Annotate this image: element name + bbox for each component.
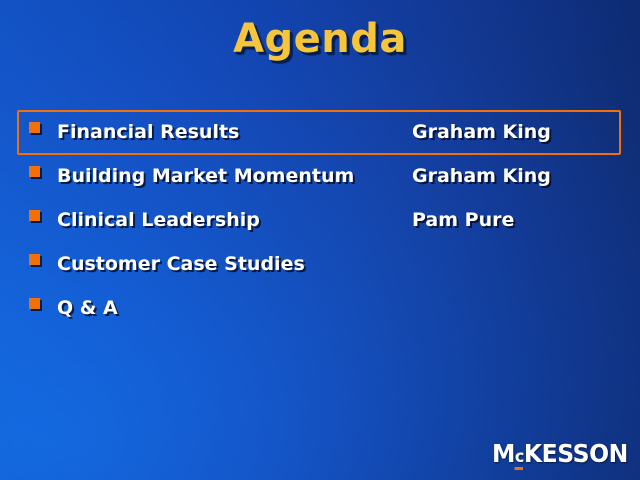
presentation-slide: Agenda Financial Results Graham King Bui… bbox=[0, 0, 640, 480]
mckesson-logo: McKESSON bbox=[492, 440, 628, 471]
slide-title: Agenda bbox=[0, 16, 640, 62]
bullet-square-icon bbox=[29, 166, 40, 177]
agenda-row-financial-results[interactable]: Financial Results Graham King bbox=[0, 110, 640, 154]
logo-text-m: M bbox=[492, 440, 515, 468]
agenda-presenter: Graham King bbox=[412, 154, 551, 198]
agenda-presenter: Pam Pure bbox=[412, 198, 514, 242]
agenda-topic: Clinical Leadership bbox=[57, 198, 260, 242]
logo-text-kesson: KESSON bbox=[524, 440, 628, 468]
agenda-topic: Financial Results bbox=[57, 110, 239, 154]
agenda-topic: Customer Case Studies bbox=[57, 242, 305, 286]
agenda-row-customer-case-studies[interactable]: Customer Case Studies bbox=[0, 242, 640, 286]
agenda-list: Financial Results Graham King Building M… bbox=[0, 110, 640, 330]
agenda-row-q-and-a[interactable]: Q & A bbox=[0, 286, 640, 330]
bullet-square-icon bbox=[29, 122, 40, 133]
bullet-square-icon bbox=[29, 298, 40, 309]
agenda-topic: Building Market Momentum bbox=[57, 154, 354, 198]
agenda-row-clinical-leadership[interactable]: Clinical Leadership Pam Pure bbox=[0, 198, 640, 242]
agenda-presenter: Graham King bbox=[412, 110, 551, 154]
agenda-topic: Q & A bbox=[57, 286, 118, 330]
bullet-square-icon bbox=[29, 254, 40, 265]
agenda-row-building-market-momentum[interactable]: Building Market Momentum Graham King bbox=[0, 154, 640, 198]
logo-text-c: c bbox=[515, 443, 524, 471]
bullet-square-icon bbox=[29, 210, 40, 221]
